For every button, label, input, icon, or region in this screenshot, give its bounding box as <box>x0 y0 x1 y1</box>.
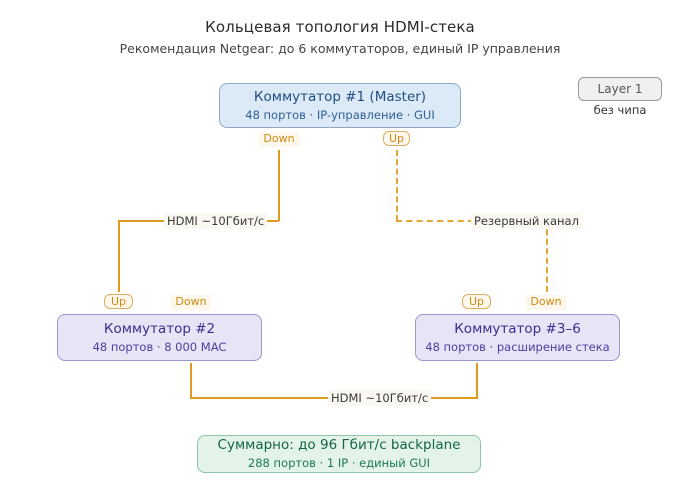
node-switch-master-title: Коммутатор #1 (Master) <box>254 89 426 106</box>
node-switch-3-6-title: Коммутатор #3–6 <box>454 321 581 338</box>
node-switch-2[interactable]: Коммутатор #2 48 портов · 8 000 MAC <box>57 314 262 361</box>
page-subtitle: Рекомендация Netgear: до 6 коммутаторов,… <box>0 41 680 56</box>
node-summary[interactable]: Суммарно: до 96 Гбит/с backplane 288 пор… <box>197 435 481 473</box>
port-sw2-down[interactable]: Down <box>171 295 211 310</box>
edge-master-sw2-segment-v2 <box>118 220 120 292</box>
node-summary-title: Суммарно: до 96 Гбит/с backplane <box>218 437 461 454</box>
node-switch-3-6[interactable]: Коммутатор #3–6 48 портов · расширение с… <box>415 314 620 361</box>
edge-master-sw36-segment-v1 <box>396 150 398 221</box>
edge-sw2-sw36-segment-v1 <box>190 363 192 397</box>
layer-badge-label: Layer 1 <box>598 82 643 96</box>
edge-sw2-sw36-segment-v2 <box>476 363 478 398</box>
node-switch-2-title: Коммутатор #2 <box>104 321 215 338</box>
diagram-canvas: Кольцевая топология HDMI-стека Рекоменда… <box>0 0 680 482</box>
layer-badge-sublabel: без чипа <box>578 103 662 117</box>
page-title: Кольцевая топология HDMI-стека <box>0 18 680 36</box>
port-sw36-down[interactable]: Down <box>526 295 566 310</box>
port-master-up[interactable]: Up <box>383 131 410 146</box>
node-summary-subtitle: 288 портов · 1 IP · единый GUI <box>248 456 430 470</box>
edge-master-sw2-segment-v1 <box>278 150 280 221</box>
port-sw2-up[interactable]: Up <box>104 294 133 309</box>
edge-label-sw2-sw36: HDMI ~10Гбит/с <box>328 390 431 406</box>
port-sw36-up[interactable]: Up <box>462 294 491 309</box>
layer-badge: Layer 1 <box>578 77 662 101</box>
node-switch-master[interactable]: Коммутатор #1 (Master) 48 портов · IP-уп… <box>219 83 461 128</box>
edge-master-sw36-segment-v2 <box>546 220 548 292</box>
node-switch-2-subtitle: 48 портов · 8 000 MAC <box>93 340 227 354</box>
node-switch-master-subtitle: 48 портов · IP-управление · GUI <box>245 108 434 122</box>
edge-label-master-sw36: Резервный канал <box>471 213 582 229</box>
port-master-down[interactable]: Down <box>259 132 299 147</box>
edge-label-master-sw2: HDMI ~10Гбит/с <box>164 213 267 229</box>
node-switch-3-6-subtitle: 48 портов · расширение стека <box>425 340 609 354</box>
